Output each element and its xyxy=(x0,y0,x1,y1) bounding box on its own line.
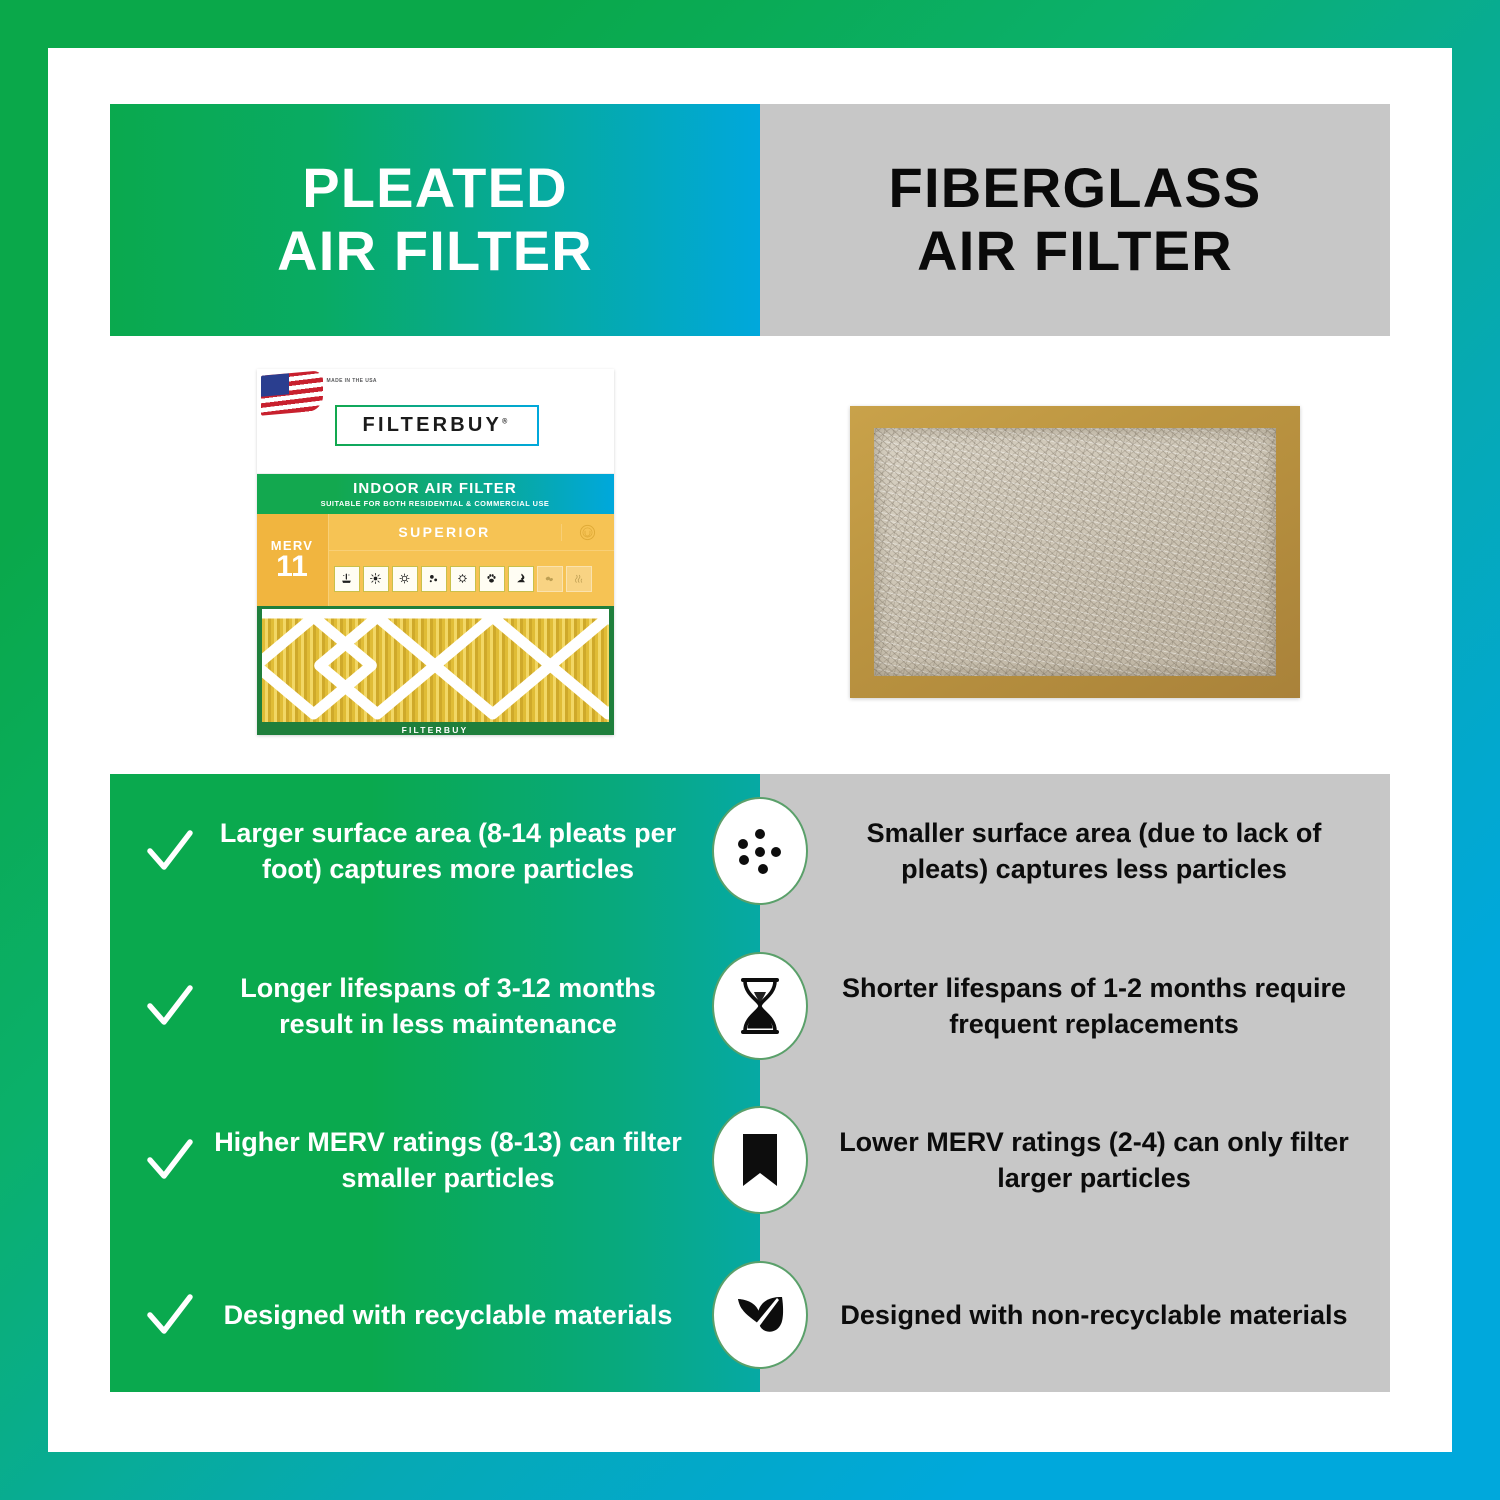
comparison-right-text: Designed with non-recyclable materials xyxy=(840,1297,1347,1333)
filterbuy-logo-text: FILTERBUY® xyxy=(363,414,511,437)
fiberglass-media-texture xyxy=(874,428,1276,676)
inner-white-card: PLEATED AIR FILTER FIBERGLASS AIR FILTER… xyxy=(48,48,1452,1452)
comparison-row-right: Designed with non-recyclable materials xyxy=(760,1238,1390,1393)
merv-strip: MERV 11 SUPERIOR xyxy=(257,514,614,606)
usa-flag-icon xyxy=(261,370,323,415)
virus-icon xyxy=(450,566,476,592)
fiberglass-product-cell xyxy=(760,336,1390,768)
infographic-page: PLEATED AIR FILTER FIBERGLASS AIR FILTER… xyxy=(0,0,1500,1500)
header-fiberglass-title: FIBERGLASS AIR FILTER xyxy=(889,157,1262,282)
comparison-right-text: Smaller surface area (due to lack of ple… xyxy=(838,815,1350,887)
comparison-left-text: Higher MERV ratings (8-13) can filter sm… xyxy=(208,1124,688,1196)
check-icon xyxy=(140,1134,200,1186)
grade-row: SUPERIOR xyxy=(329,514,614,551)
merv-rating-block: MERV 11 xyxy=(257,514,329,606)
comparison-row: Designed with recyclable materials Desig… xyxy=(110,1238,1390,1393)
fiberglass-filter-product-image xyxy=(850,406,1300,698)
bacteria-icon xyxy=(421,566,447,592)
merv-number-label: 11 xyxy=(276,553,308,582)
product-image-zone: MADE IN THE USA FILTERBUY® INDOOR AIR FI… xyxy=(110,336,1390,768)
header-fiberglass-panel: FIBERGLASS AIR FILTER xyxy=(760,104,1390,336)
filter-capability-icons xyxy=(329,551,614,606)
header-pleated-panel: PLEATED AIR FILTER xyxy=(110,104,760,336)
dust-icon xyxy=(334,566,360,592)
pleated-bottom-brand: FILTERBUY xyxy=(257,725,614,735)
comparison-row-left: Longer lifespans of 3-12 months result i… xyxy=(110,929,760,1084)
comparison-left-text: Longer lifespans of 3-12 months result i… xyxy=(208,970,688,1042)
comparison-zone: Larger surface area (8-14 pleats per foo… xyxy=(110,774,1390,1392)
pleated-media-area: FILTERBUY xyxy=(257,606,614,735)
pleated-support-grid xyxy=(262,609,609,722)
comparison-row-left: Larger surface area (8-14 pleats per foo… xyxy=(110,774,760,929)
check-icon xyxy=(140,1289,200,1341)
comparison-left-text: Designed with recyclable materials xyxy=(208,1297,688,1333)
odor-icon xyxy=(537,566,563,592)
check-icon xyxy=(140,980,200,1032)
comparison-row-left: Designed with recyclable materials xyxy=(110,1238,760,1393)
particles-dots-icon xyxy=(712,797,808,905)
smog-icon xyxy=(566,566,592,592)
comparison-right-text: Shorter lifespans of 1-2 months require … xyxy=(838,970,1350,1042)
bookmark-icon xyxy=(712,1106,808,1214)
pleated-filter-product-image: MADE IN THE USA FILTERBUY® INDOOR AIR FI… xyxy=(257,369,614,735)
hourglass-icon xyxy=(712,952,808,1060)
comparison-row-right: Shorter lifespans of 1-2 months require … xyxy=(760,929,1390,1084)
comparison-row-left: Higher MERV ratings (8-13) can filter sm… xyxy=(110,1083,760,1238)
comparison-row: Larger surface area (8-14 pleats per foo… xyxy=(110,774,1390,929)
check-icon xyxy=(140,825,200,877)
filterbuy-logo: FILTERBUY® xyxy=(335,405,539,446)
pleated-box-header: MADE IN THE USA FILTERBUY® xyxy=(257,369,614,474)
leaf-recycle-icon xyxy=(712,1261,808,1369)
ul-certification-icon xyxy=(561,524,614,541)
banner-main-label: INDOOR AIR FILTER xyxy=(353,480,517,497)
header-band: PLEATED AIR FILTER FIBERGLASS AIR FILTER xyxy=(110,104,1390,336)
header-pleated-title: PLEATED AIR FILTER xyxy=(277,157,593,282)
grade-label: SUPERIOR xyxy=(329,524,561,540)
pet-dander-icon xyxy=(479,566,505,592)
mold-spores-icon xyxy=(392,566,418,592)
comparison-left-text: Larger surface area (8-14 pleats per foo… xyxy=(208,815,688,887)
pollen-icon xyxy=(363,566,389,592)
smoke-icon xyxy=(508,566,534,592)
pleated-product-cell: MADE IN THE USA FILTERBUY® INDOOR AIR FI… xyxy=(110,336,760,768)
comparison-row-right: Lower MERV ratings (2-4) can only filter… xyxy=(760,1083,1390,1238)
comparison-row: Longer lifespans of 3-12 months result i… xyxy=(110,929,1390,1084)
comparison-row: Higher MERV ratings (8-13) can filter sm… xyxy=(110,1083,1390,1238)
made-in-usa-label: MADE IN THE USA xyxy=(327,378,377,386)
indoor-air-filter-banner: INDOOR AIR FILTER SUITABLE FOR BOTH RESI… xyxy=(257,474,614,514)
comparison-right-text: Lower MERV ratings (2-4) can only filter… xyxy=(838,1124,1350,1196)
merv-right-block: SUPERIOR xyxy=(329,514,614,606)
comparison-row-right: Smaller surface area (due to lack of ple… xyxy=(760,774,1390,929)
banner-sub-label: SUITABLE FOR BOTH RESIDENTIAL & COMMERCI… xyxy=(321,499,550,508)
